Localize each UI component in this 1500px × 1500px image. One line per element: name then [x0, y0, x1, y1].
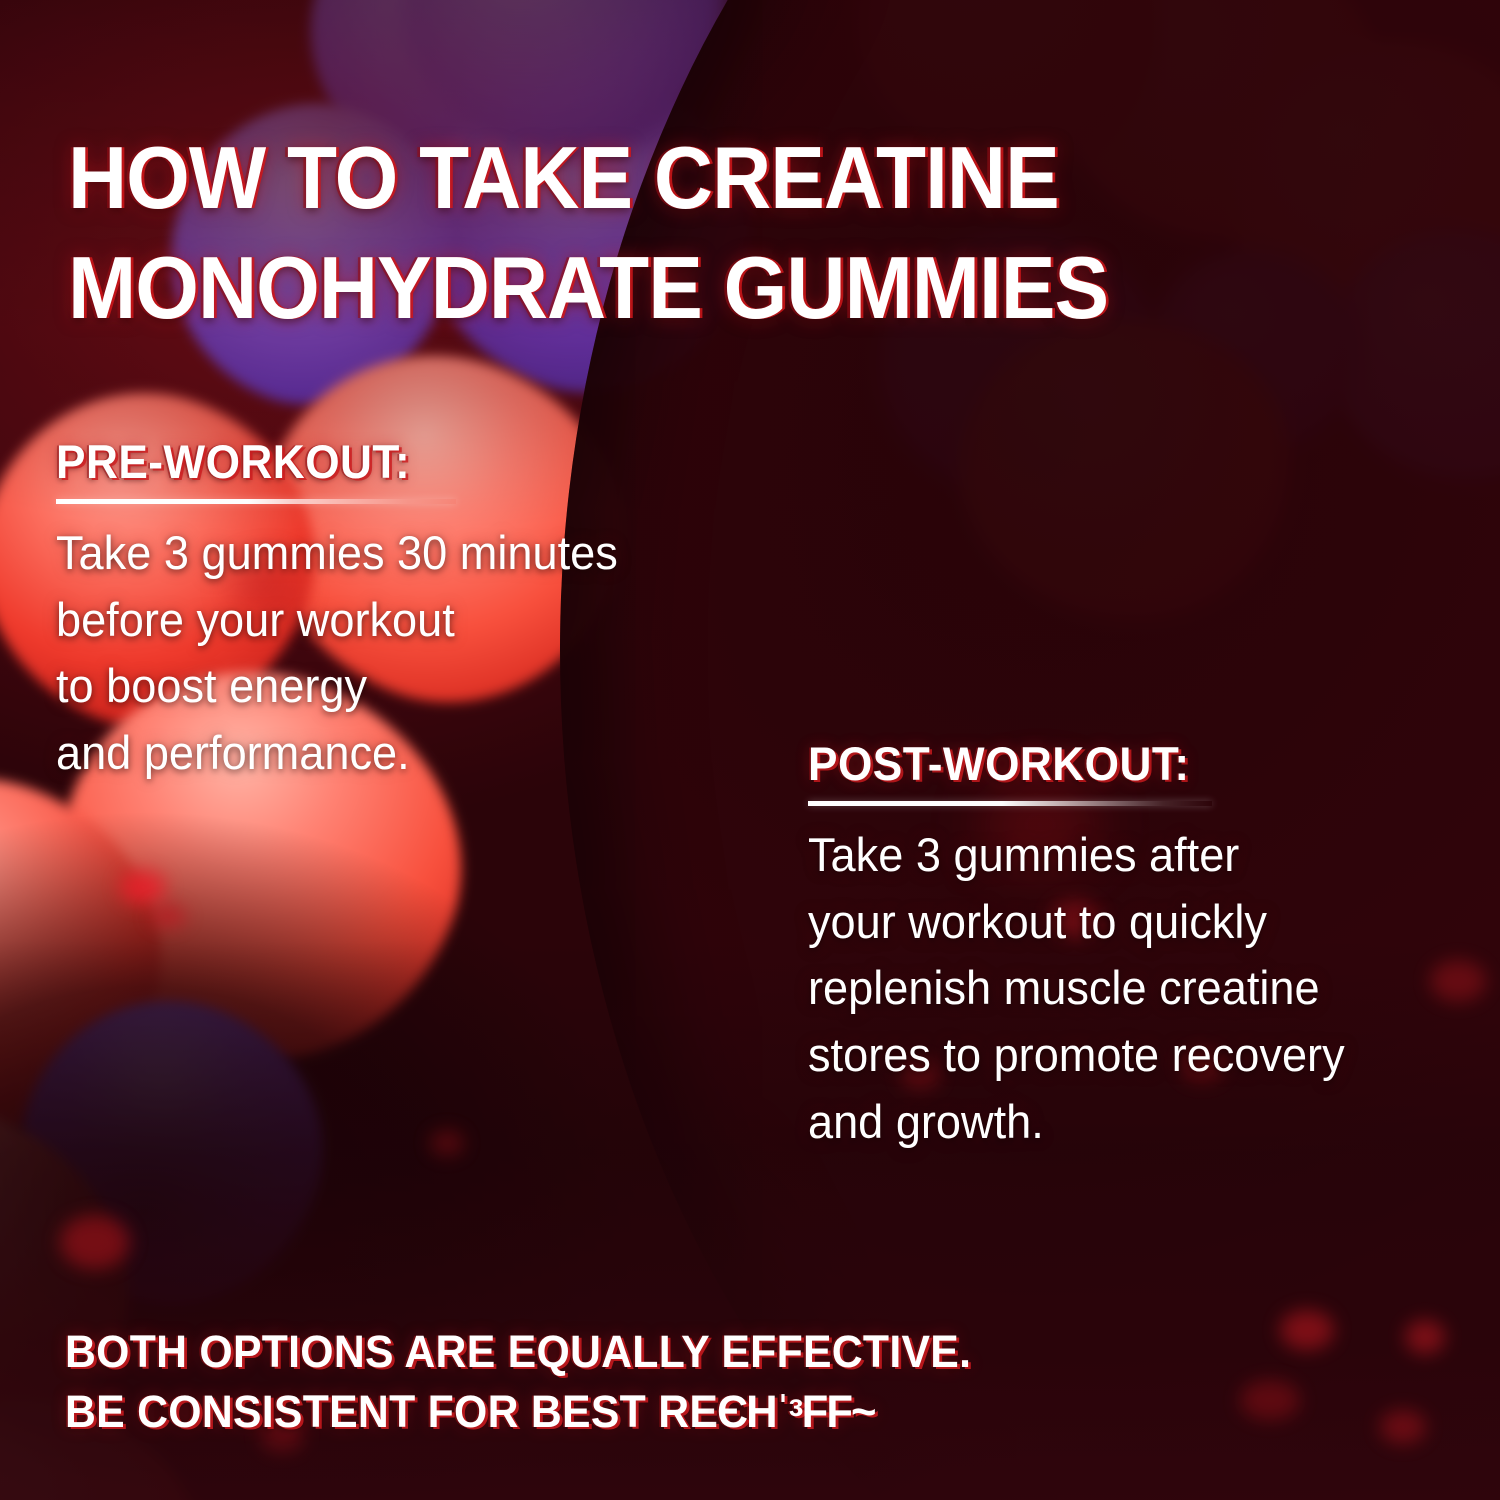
bokeh-dot-1 [120, 870, 166, 904]
footer-garbled-text: ЄНˈᵌFF~ [717, 1382, 875, 1442]
footer-callout: BOTH OPTIONS ARE EQUALLY EFFECTIVE. BE C… [65, 1322, 1357, 1442]
post-workout-body: Take 3 gummies after your workout to qui… [808, 822, 1442, 1156]
post-workout-divider [808, 801, 1212, 806]
bokeh-dot-3 [60, 1215, 130, 1269]
page-title: HOW TO TAKE CREATINE MONOHYDRATE GUMMIES [68, 123, 1305, 343]
section-post-workout: POST-WORKOUT: Take 3 gummies after your … [808, 736, 1468, 1156]
footer-line-2-prefix: BE CONSISTENT FOR BEST RE [65, 1386, 718, 1437]
post-workout-heading: POST-WORKOUT: [808, 736, 1428, 791]
section-pre-workout: PRE-WORKOUT: Take 3 gummies 30 minutes b… [56, 434, 776, 787]
pre-workout-body: Take 3 gummies 30 minutes before your wo… [56, 520, 747, 787]
pre-workout-heading: PRE-WORKOUT: [56, 434, 733, 489]
bokeh-dot-6 [1380, 1410, 1426, 1444]
bokeh-dot-11 [430, 1130, 464, 1156]
bokeh-dot-2 [150, 905, 186, 927]
product-infographic-poster: HOW TO TAKE CREATINE MONOHYDRATE GUMMIES… [0, 0, 1500, 1500]
footer-line-1: BOTH OPTIONS ARE EQUALLY EFFECTIVE. [65, 1326, 971, 1377]
footer-line-2: BE CONSISTENT FOR BEST REЄНˈᵌFF~ [65, 1382, 1357, 1442]
bokeh-dot-5 [1405, 1320, 1445, 1354]
pre-workout-divider [56, 499, 456, 504]
